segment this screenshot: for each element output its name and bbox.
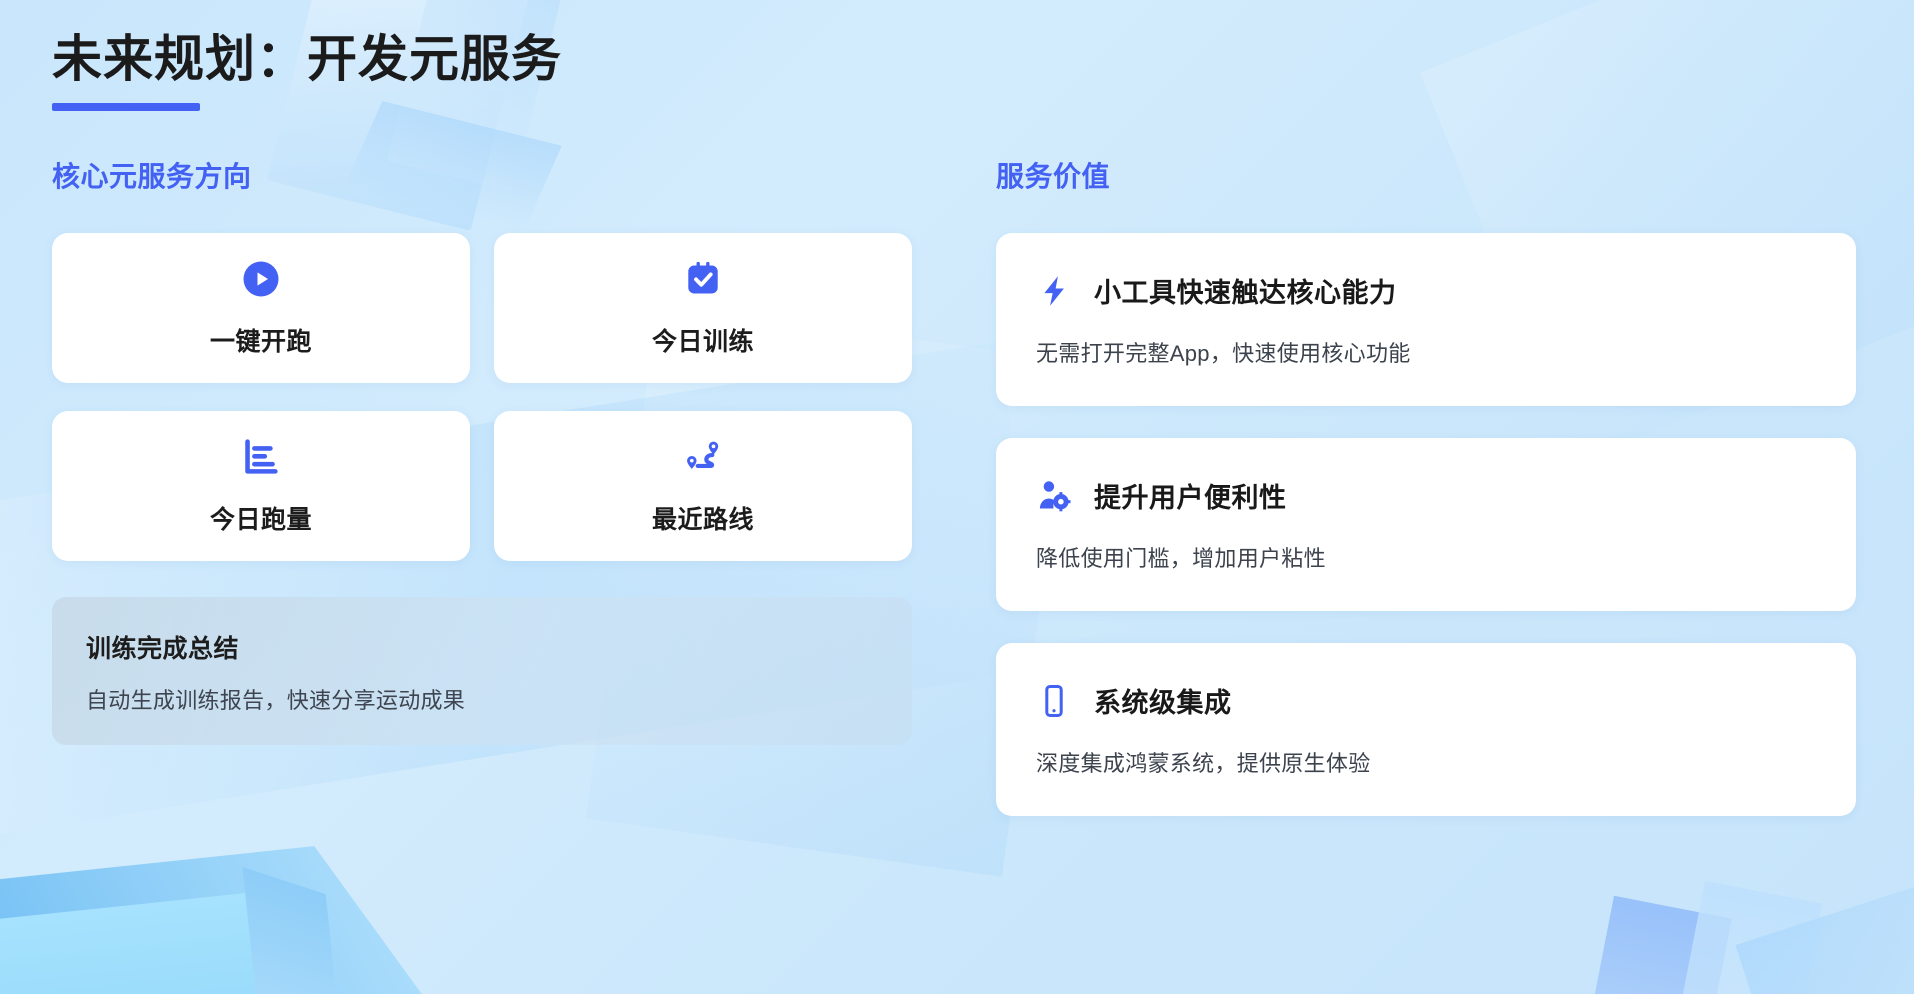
calendar-check-icon — [682, 258, 724, 300]
quick-card-one-tap-run[interactable]: 一键开跑 — [52, 233, 470, 383]
value-card-description: 降低使用门槛，增加用户粘性 — [1036, 541, 1816, 573]
value-card-description: 无需打开完整App，快速使用核心功能 — [1036, 336, 1816, 368]
quick-card-label: 一键开跑 — [210, 322, 312, 358]
training-summary-panel: 训练完成总结 自动生成训练报告，快速分享运动成果 — [52, 597, 912, 745]
value-card-description: 深度集成鸿蒙系统，提供原生体验 — [1036, 746, 1816, 778]
play-circle-icon — [240, 258, 282, 300]
page-title: 未来规划：开发元服务 — [52, 30, 1862, 89]
summary-description: 自动生成训练报告，快速分享运动成果 — [86, 683, 878, 715]
title-underline-accent — [52, 103, 200, 111]
mobile-phone-icon — [1036, 683, 1072, 719]
value-card-title: 提升用户便利性 — [1094, 476, 1287, 515]
slide-header: 未来规划：开发元服务 — [52, 30, 1862, 111]
content-columns: 核心元服务方向 一键开跑 — [52, 155, 1862, 816]
quick-card-label: 最近路线 — [652, 500, 754, 536]
slide-root: 未来规划：开发元服务 核心元服务方向 一键开跑 — [0, 0, 1914, 994]
lightning-bolt-icon — [1036, 273, 1072, 309]
value-card-system-integration[interactable]: 系统级集成 深度集成鸿蒙系统，提供原生体验 — [996, 643, 1856, 816]
quick-card-label: 今日跑量 — [210, 500, 312, 536]
service-value-card-list: 小工具快速触达核心能力 无需打开完整App，快速使用核心功能 — [996, 233, 1856, 816]
section-heading-core-directions: 核心元服务方向 — [52, 155, 912, 195]
bar-chart-icon — [240, 436, 282, 478]
right-column: 服务价值 小工具快速触达核心能力 无需打开完整App，快速使用核心功能 — [996, 155, 1856, 816]
left-column: 核心元服务方向 一键开跑 — [52, 155, 912, 745]
quick-card-label: 今日训练 — [652, 322, 754, 358]
value-card-header: 系统级集成 — [1036, 681, 1816, 720]
user-gear-icon — [1036, 478, 1072, 514]
section-heading-service-value: 服务价值 — [996, 155, 1856, 195]
value-card-header: 提升用户便利性 — [1036, 476, 1816, 515]
quick-card-today-training[interactable]: 今日训练 — [494, 233, 912, 383]
value-card-user-convenience[interactable]: 提升用户便利性 降低使用门槛，增加用户粘性 — [996, 438, 1856, 611]
value-card-title: 系统级集成 — [1094, 681, 1232, 720]
value-card-title: 小工具快速触达核心能力 — [1094, 271, 1397, 310]
summary-title: 训练完成总结 — [86, 629, 878, 665]
quick-card-today-mileage[interactable]: 今日跑量 — [52, 411, 470, 561]
value-card-header: 小工具快速触达核心能力 — [1036, 271, 1816, 310]
quick-card-recent-route[interactable]: 最近路线 — [494, 411, 912, 561]
value-card-quick-access[interactable]: 小工具快速触达核心能力 无需打开完整App，快速使用核心功能 — [996, 233, 1856, 406]
quick-entry-card-grid: 一键开跑 今日训练 — [52, 233, 912, 561]
route-icon — [682, 436, 724, 478]
